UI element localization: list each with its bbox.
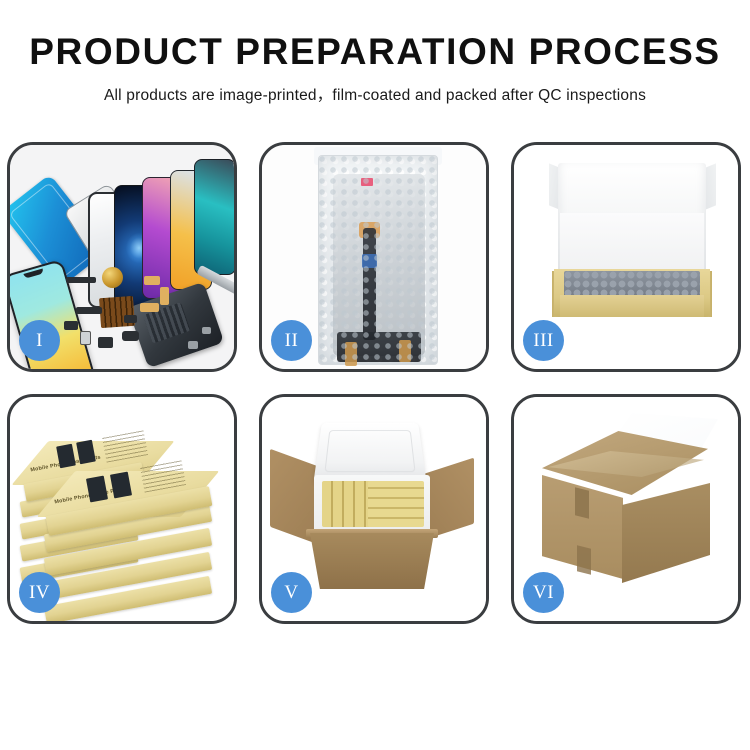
part-graphic [160,287,169,305]
speaker-coil-graphic [102,267,123,288]
part-graphic [124,315,137,323]
process-step-panel-2[interactable]: II [259,142,489,372]
box-front-graphic [560,295,704,317]
page-title: PRODUCT PREPARATION PROCESS [0,30,750,74]
part-graphic [80,331,91,345]
carton-tape-graphic [575,487,589,518]
process-step-grid: I II [7,142,743,624]
step-badge-1: I [19,320,60,361]
part-graphic [144,276,160,285]
part-graphic [122,331,139,341]
process-step-panel-5[interactable]: V [259,394,489,624]
process-step-panel-6[interactable]: VI [511,394,741,624]
part-graphic [66,277,96,283]
step-badge-2: II [271,320,312,361]
foam-insert-graphic [560,213,704,275]
part-graphic [188,341,198,349]
process-step-panel-4[interactable]: Mobile Phone Spare Parts Mobile Phone Sp… [7,394,237,624]
chip-array-graphic [99,296,135,328]
foam-lid-graphic [313,423,426,482]
process-step-panel-3[interactable]: III [511,142,741,372]
part-graphic [98,337,113,348]
part-graphic [76,307,102,314]
packed-boxes-graphic [368,481,424,527]
phone-screen-teal-graphic [194,159,234,275]
page-subtitle: All products are image-printed，film-coat… [0,83,750,105]
process-step-panel-1[interactable]: I [7,142,237,372]
step-badge-5: V [271,572,312,613]
step-badge-3: III [523,320,564,361]
part-graphic [202,327,211,334]
part-graphic [64,321,78,330]
bubble-texture-graphic [319,156,437,364]
page-header: PRODUCT PREPARATION PROCESS All products… [0,0,750,105]
step-badge-4: IV [19,572,60,613]
carton-front-graphic [310,533,434,589]
bubble-wrap-bag-graphic [318,155,438,365]
step-badge-6: VI [523,572,564,613]
part-graphic [140,303,159,312]
carton-tape-graphic [577,545,591,574]
